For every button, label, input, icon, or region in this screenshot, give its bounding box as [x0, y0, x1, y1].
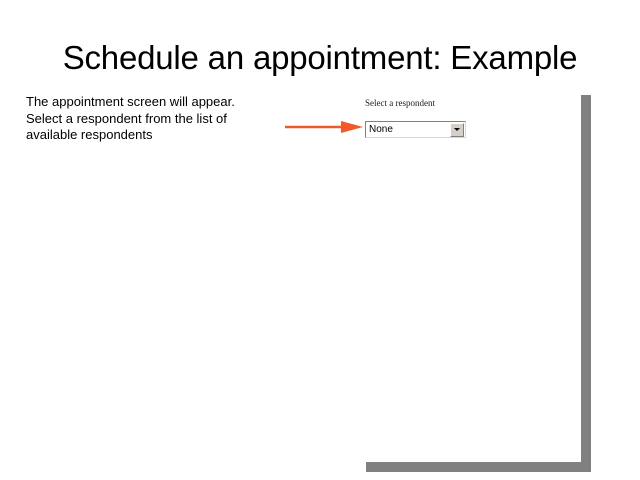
screenshot-shadow-bottom	[366, 462, 581, 472]
respondent-select[interactable]: None	[365, 121, 466, 138]
screenshot-shadow-right	[581, 95, 591, 472]
body-paragraph: The appointment screen will appear. Sele…	[26, 94, 256, 144]
respondent-select-value: None	[366, 124, 450, 136]
respondent-field-label: Select a respondent	[365, 98, 435, 109]
chevron-down-icon[interactable]	[450, 123, 464, 137]
arrow-right-icon	[283, 118, 367, 136]
embedded-screenshot: Select a respondent None	[360, 92, 581, 462]
page-title: Schedule an appointment: Example	[0, 38, 640, 78]
presentation-slide: Schedule an appointment: Example The app…	[0, 0, 640, 480]
